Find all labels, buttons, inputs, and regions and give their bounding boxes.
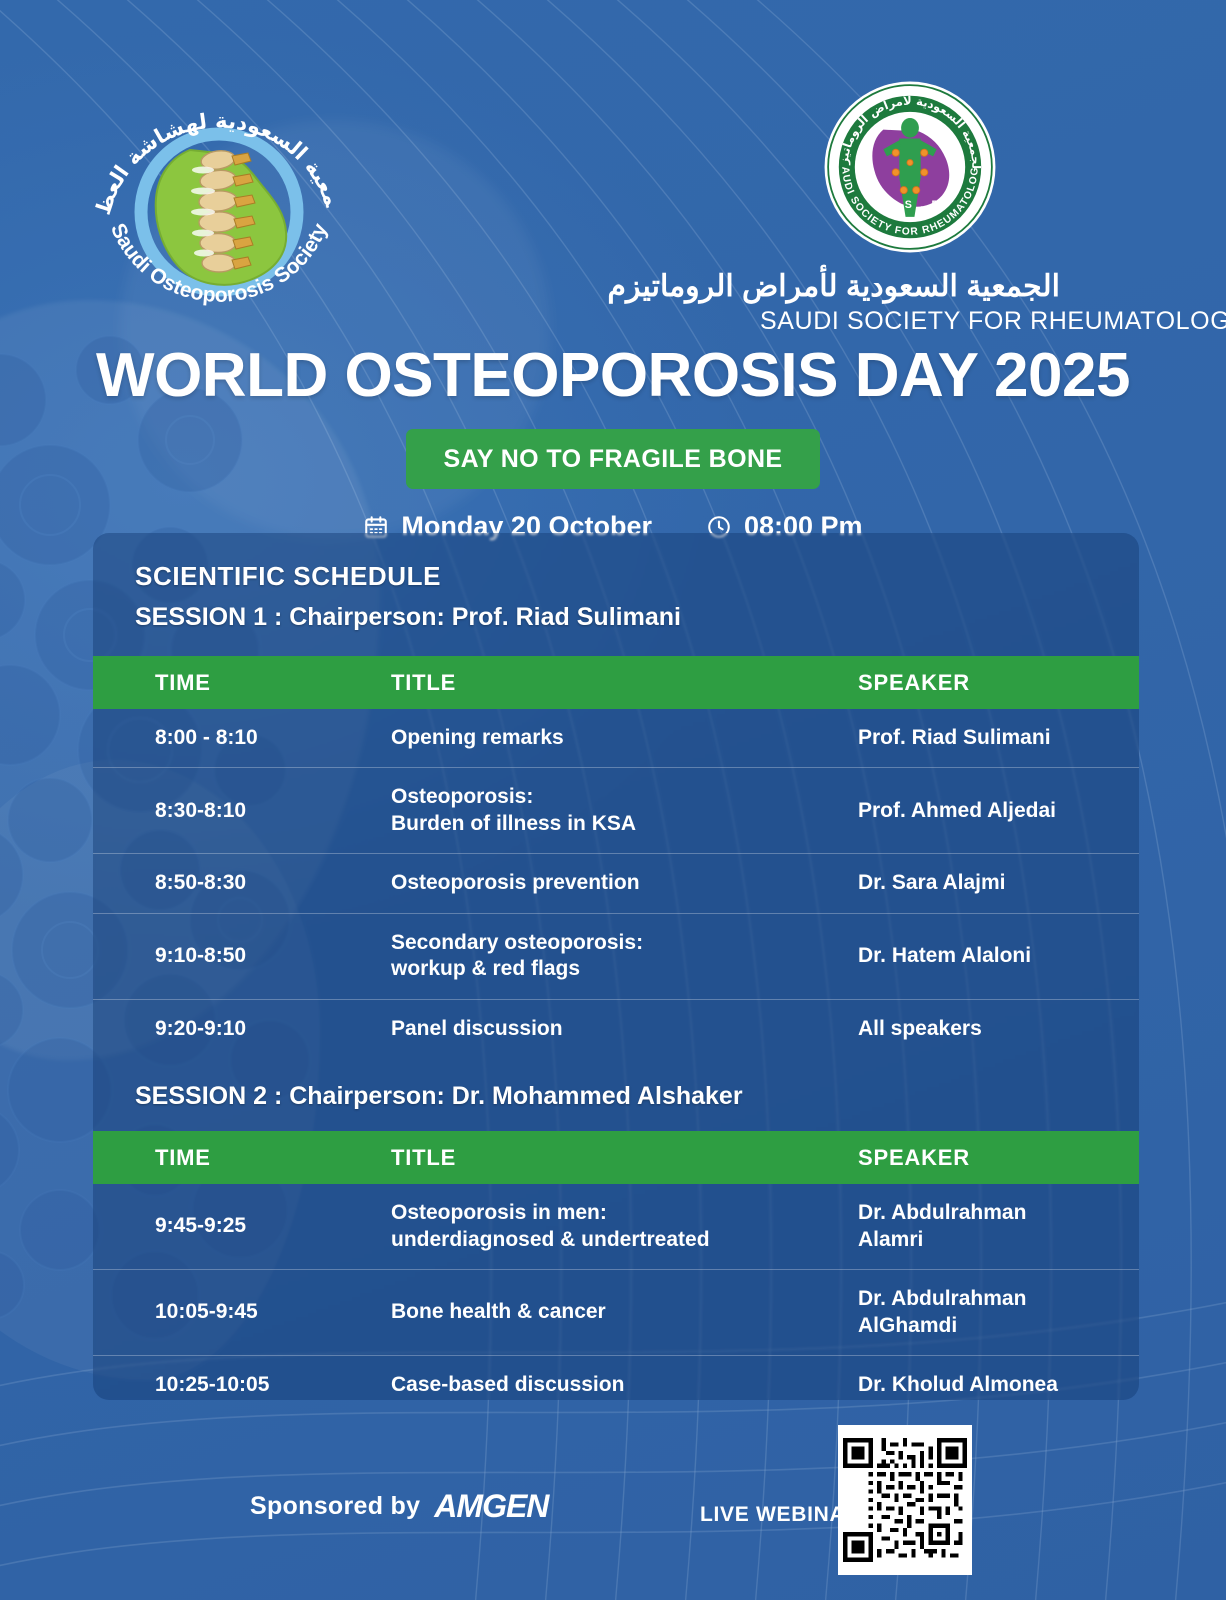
column-header-time-2: TIME [93,1131,373,1184]
session-2-body: 9:45-9:25Osteoporosis in men:underdiagno… [93,1184,1139,1400]
schedule-heading-block: SCIENTIFIC SCHEDULE SESSION 1 : Chairper… [93,533,1139,632]
row-speaker: Dr. Kholud Almonea [858,1355,1139,1400]
row-time: 10:25-10:05 [93,1355,373,1400]
row-title: Secondary osteoporosis:workup & red flag… [373,913,858,999]
session-1-chair: SESSION 1 : Chairperson: Prof. Riad Suli… [135,603,1139,632]
page-title: WORLD OSTEOPOROSIS DAY 2025 [0,345,1226,407]
session-1-body: 8:00 - 8:10Opening remarksProf. Riad Sul… [93,709,1139,1058]
row-title: Case-based discussion [373,1355,858,1400]
session-1-table: TIME TITLE SPEAKER 8:00 - 8:10Opening re… [93,656,1139,1058]
qr-code-icon[interactable] [838,1425,972,1575]
table-row: 9:45-9:25Osteoporosis in men:underdiagno… [93,1184,1139,1269]
poster-footer: Sponsored by AMGEN LIVE WEBINAR [0,1440,1226,1600]
row-time: 8:00 - 8:10 [93,709,373,768]
saudi-society-for-rheumatology-logo: الجمعية السعودية لأمراض الروماتيزم SAUDI… [760,78,1060,378]
table-row: 10:25-10:05Case-based discussionDr. Khol… [93,1355,1139,1400]
row-time: 9:20-9:10 [93,999,373,1058]
column-header-speaker-2: SPEAKER [858,1131,1139,1184]
row-time: 9:10-8:50 [93,913,373,999]
row-title: Osteoporosis in men:underdiagnosed & und… [373,1184,858,1269]
table-row: 9:10-8:50Secondary osteoporosis:workup &… [93,913,1139,999]
row-title: Osteoporosis:Burden of illness in KSA [373,768,858,854]
row-speaker: Prof. Ahmed Aljedai [858,768,1139,854]
poster-root: الجمعية السعودية لهشاشة العظام Saudi Ost… [0,0,1226,1600]
session-2-header-row: TIME TITLE SPEAKER [93,1131,1139,1184]
table-row: 8:30-8:10Osteoporosis:Burden of illness … [93,768,1139,854]
row-time: 9:45-9:25 [93,1184,373,1269]
ssr-name-english: SAUDI SOCIETY FOR RHEUMATOLOGY [760,307,1060,336]
svg-text:S . S . R: S . S . R [878,199,942,211]
tagline-badge: SAY NO TO FRAGILE BONE [406,429,821,489]
row-speaker: Dr. AbdulrahmanAlamri [858,1184,1139,1269]
row-title: Osteoporosis prevention [373,854,858,913]
row-time: 10:05-9:45 [93,1270,373,1356]
table-row: 10:05-9:45Bone health & cancerDr. Abdulr… [93,1270,1139,1356]
scientific-schedule-panel: SCIENTIFIC SCHEDULE SESSION 1 : Chairper… [93,533,1139,1400]
row-speaker: Dr. Sara Alajmi [858,854,1139,913]
row-time: 8:50-8:30 [93,854,373,913]
sponsor-label: Sponsored by [250,1492,420,1521]
column-header-speaker: SPEAKER [858,656,1139,709]
row-time: 8:30-8:10 [93,768,373,854]
column-header-title: TITLE [373,656,858,709]
amgen-logo: AMGEN [434,1488,548,1525]
table-row: 8:50-8:30Osteoporosis preventionDr. Sara… [93,854,1139,913]
row-title: Opening remarks [373,709,858,768]
saudi-osteoporosis-society-logo: الجمعية السعودية لهشاشة العظام Saudi Ost… [78,72,360,322]
row-speaker: Prof. Riad Sulimani [858,709,1139,768]
title-block: WORLD OSTEOPOROSIS DAY 2025 SAY NO TO FR… [0,345,1226,542]
ssr-name-arabic: الجمعية السعودية لأمراض الروماتيزم [760,270,1060,303]
session-2-chair: SESSION 2 : Chairperson: Dr. Mohammed Al… [93,1082,1139,1111]
table-row: 8:00 - 8:10Opening remarksProf. Riad Sul… [93,709,1139,768]
row-title: Panel discussion [373,999,858,1058]
column-header-title-2: TITLE [373,1131,858,1184]
row-speaker: All speakers [858,999,1139,1058]
schedule-heading: SCIENTIFIC SCHEDULE [135,561,1139,592]
row-title: Bone health & cancer [373,1270,858,1356]
row-speaker: Dr. AbdulrahmanAlGhamdi [858,1270,1139,1356]
session-1-header-row: TIME TITLE SPEAKER [93,656,1139,709]
column-header-time: TIME [93,656,373,709]
sponsor-block: Sponsored by AMGEN [250,1488,548,1525]
row-speaker: Dr. Hatem Alaloni [858,913,1139,999]
session-2-table: TIME TITLE SPEAKER 9:45-9:25Osteoporosis… [93,1131,1139,1400]
table-row: 9:20-9:10Panel discussionAll speakers [93,999,1139,1058]
